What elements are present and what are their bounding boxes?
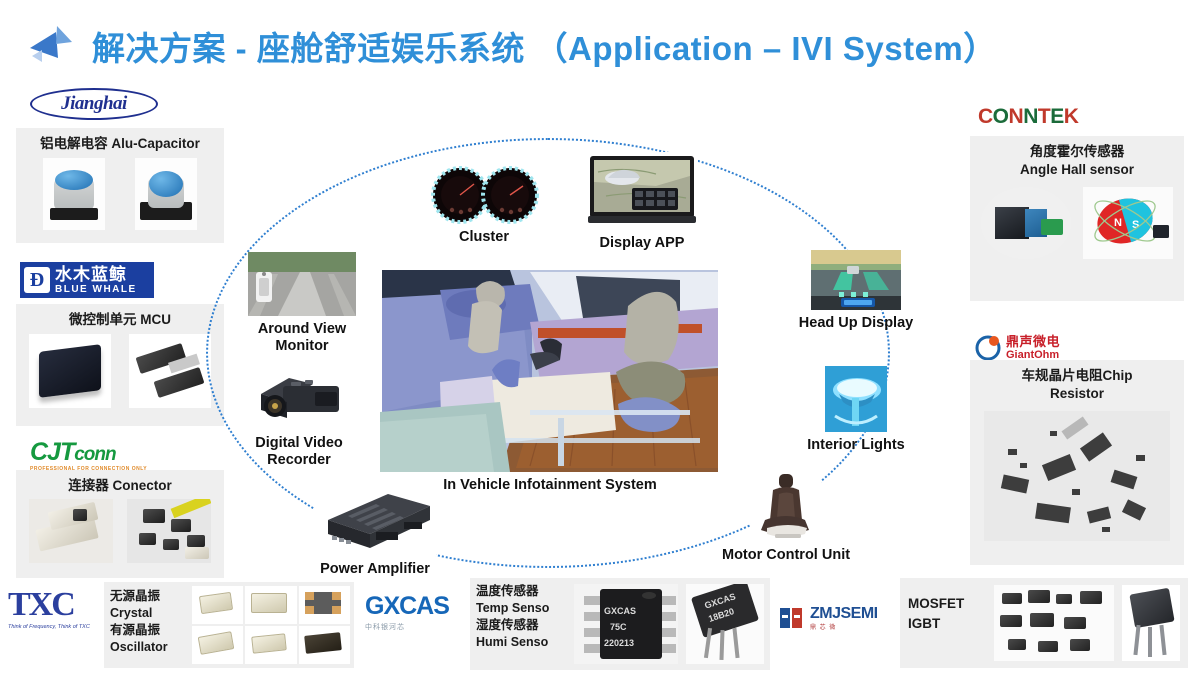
node-cluster: Cluster bbox=[428, 166, 540, 246]
connector-photo-2 bbox=[127, 499, 211, 563]
instrument-cluster-photo bbox=[428, 166, 540, 224]
node-label-head-up-display: Head Up Display bbox=[794, 315, 918, 332]
oscillator-2 bbox=[245, 626, 296, 664]
mosfet-package-group bbox=[994, 585, 1114, 661]
gxcas-logo-icon: GXCAS 中科银河芯 bbox=[365, 594, 483, 636]
display-app-photo bbox=[586, 152, 698, 230]
panel-temp-humi-sensor: 温度传感器 Temp Senso 湿度传感器 Humi Senso GXCAS … bbox=[470, 578, 770, 670]
txc-line-4: Oscillator bbox=[110, 638, 188, 655]
panel-angle-hall-sensor: 角度霍尔传感器 Angle Hall sensor N S bbox=[970, 136, 1184, 301]
txc-line-2: Crystal bbox=[110, 604, 188, 621]
panel-title-alu-capacitor: 铝电解电容 Alu-Capacitor bbox=[16, 128, 224, 152]
gxcas-line-1: 温度传感器 bbox=[476, 581, 568, 599]
panel-title-resistor-en: Resistor bbox=[970, 384, 1184, 402]
gxcas-line-2: Temp Senso bbox=[476, 599, 568, 616]
head-up-display-photo bbox=[811, 250, 901, 310]
node-label-dvr-2: Recorder bbox=[244, 452, 354, 469]
gxcas-cn: 中科银河芯 bbox=[365, 622, 483, 632]
cjt-conn-logo-icon: CJTconn PROFESSIONAL FOR CONNECTION ONLY bbox=[30, 440, 160, 474]
node-label-interior-lights: Interior Lights bbox=[806, 437, 906, 454]
power-amplifier-photo bbox=[314, 488, 436, 556]
node-label-around-view-monitor-2: Monitor bbox=[248, 338, 356, 355]
giantohm-cn: 鼎声微电 bbox=[1006, 335, 1060, 348]
slide-header: 解决方案 - 座舱舒适娱乐系统 （Application – IVI Syste… bbox=[0, 0, 1200, 78]
node-label-power-amplifier: Power Amplifier bbox=[306, 561, 444, 578]
node-display-app: Display APP bbox=[586, 152, 698, 252]
panel-crystal-oscillator: 无源晶振 Crystal 有源晶振 Oscillator bbox=[104, 582, 354, 668]
node-ivi-hub: In Vehicle Infotainment System bbox=[380, 262, 720, 494]
node-head-up-display: Head Up Display bbox=[794, 250, 918, 332]
magnet-ns-photo: N S bbox=[1083, 187, 1173, 259]
jianghai-logo-icon: Jianghai bbox=[30, 88, 158, 122]
gxcas-soic-chip: GXCAS 75C 220213 bbox=[574, 584, 678, 664]
blue-whale-en: BLUE WHALE bbox=[55, 285, 137, 295]
crystal-3 bbox=[299, 586, 350, 624]
triangles-logo-icon bbox=[26, 18, 84, 70]
gxcas-line-4: Humi Senso bbox=[476, 633, 568, 650]
hall-motor-photo bbox=[981, 187, 1071, 259]
node-around-view-monitor: Around View Monitor bbox=[248, 252, 356, 355]
gxcas-line-3: 湿度传感器 bbox=[476, 616, 568, 633]
page-title: 解决方案 - 座舱舒适娱乐系统 （Application – IVI Syste… bbox=[92, 22, 997, 70]
zmj-line-2: IGBT bbox=[908, 612, 988, 632]
car-interior-cabin-photo bbox=[380, 262, 720, 472]
gxcas-to92-chip: GXCAS 18B20 bbox=[686, 584, 764, 664]
txc-line-1: 无源晶振 bbox=[110, 586, 188, 604]
panel-connector: 连接器 Conector bbox=[16, 470, 224, 578]
igbt-to247-photo bbox=[1122, 585, 1180, 661]
node-label-dvr-1: Digital Video bbox=[244, 435, 354, 452]
alu-capacitor-photo-1 bbox=[43, 158, 105, 230]
panel-title-mcu: 微控制单元 MCU bbox=[16, 304, 224, 328]
conntek-logo-icon: CONNTEK bbox=[978, 106, 1090, 136]
panel-chip-resistor: 车规晶片电阻Chip Resistor bbox=[970, 360, 1184, 565]
interior-lights-photo bbox=[825, 366, 887, 432]
mcu-photo-2 bbox=[129, 334, 211, 408]
dash-camera-photo bbox=[253, 372, 345, 430]
gxcas-chip-label-2: 75C bbox=[610, 622, 627, 632]
around-view-monitor-photo bbox=[248, 252, 356, 316]
node-motor-control-unit: Motor Control Unit bbox=[722, 470, 850, 564]
txc-logo-icon: TXC Think of Frequency, Think of TXC bbox=[8, 588, 118, 636]
car-seat-photo bbox=[751, 470, 821, 542]
gxcas-chip-label-1: GXCAS bbox=[604, 606, 636, 616]
crystal-2 bbox=[245, 586, 296, 624]
gxcas-chip-label-3: 220213 bbox=[604, 638, 634, 648]
svg-text:N: N bbox=[1114, 217, 1122, 229]
blue-whale-cn: 水木蓝鲸 bbox=[55, 266, 137, 283]
chip-resistor-photo bbox=[984, 411, 1170, 541]
node-label-display-app: Display APP bbox=[586, 235, 698, 252]
panel-alu-capacitor: 铝电解电容 Alu-Capacitor bbox=[16, 128, 224, 243]
alu-capacitor-photo-2 bbox=[135, 158, 197, 230]
zmj-line-1: MOSFET bbox=[908, 588, 988, 612]
node-power-amplifier: Power Amplifier bbox=[306, 488, 444, 578]
node-label-around-view-monitor-1: Around View bbox=[248, 321, 356, 338]
node-digital-video-recorder: Digital Video Recorder bbox=[244, 372, 354, 469]
node-label-motor-control-unit: Motor Control Unit bbox=[722, 547, 850, 564]
panel-title-hall-cn: 角度霍尔传感器 bbox=[970, 136, 1184, 160]
txc-tagline: Think of Frequency, Think of TXC bbox=[8, 624, 118, 630]
oscillator-1 bbox=[192, 626, 243, 664]
panel-mosfet-igbt: MOSFET IGBT bbox=[900, 578, 1188, 668]
node-label-cluster: Cluster bbox=[428, 229, 540, 246]
blue-whale-logo-icon: Ɖ 水木蓝鲸 BLUE WHALE bbox=[20, 262, 154, 298]
mcu-photo-1 bbox=[29, 334, 111, 408]
panel-mcu: 微控制单元 MCU bbox=[16, 304, 224, 426]
panel-title-resistor-cn: 车规晶片电阻Chip bbox=[970, 360, 1184, 384]
txc-line-3: 有源晶振 bbox=[110, 621, 188, 638]
oscillator-3 bbox=[299, 626, 350, 664]
panel-title-hall-en: Angle Hall sensor bbox=[970, 160, 1184, 178]
panel-title-connector: 连接器 Conector bbox=[16, 470, 224, 494]
crystal-1 bbox=[192, 586, 243, 624]
connector-photo-1 bbox=[29, 499, 113, 563]
slide-canvas: 解决方案 - 座舱舒适娱乐系统 （Application – IVI Syste… bbox=[0, 0, 1200, 674]
zmjsemi-logo-icon: ZMJSEMI 鼎 芯 微 bbox=[780, 598, 900, 638]
node-interior-lights: Interior Lights bbox=[806, 366, 906, 454]
